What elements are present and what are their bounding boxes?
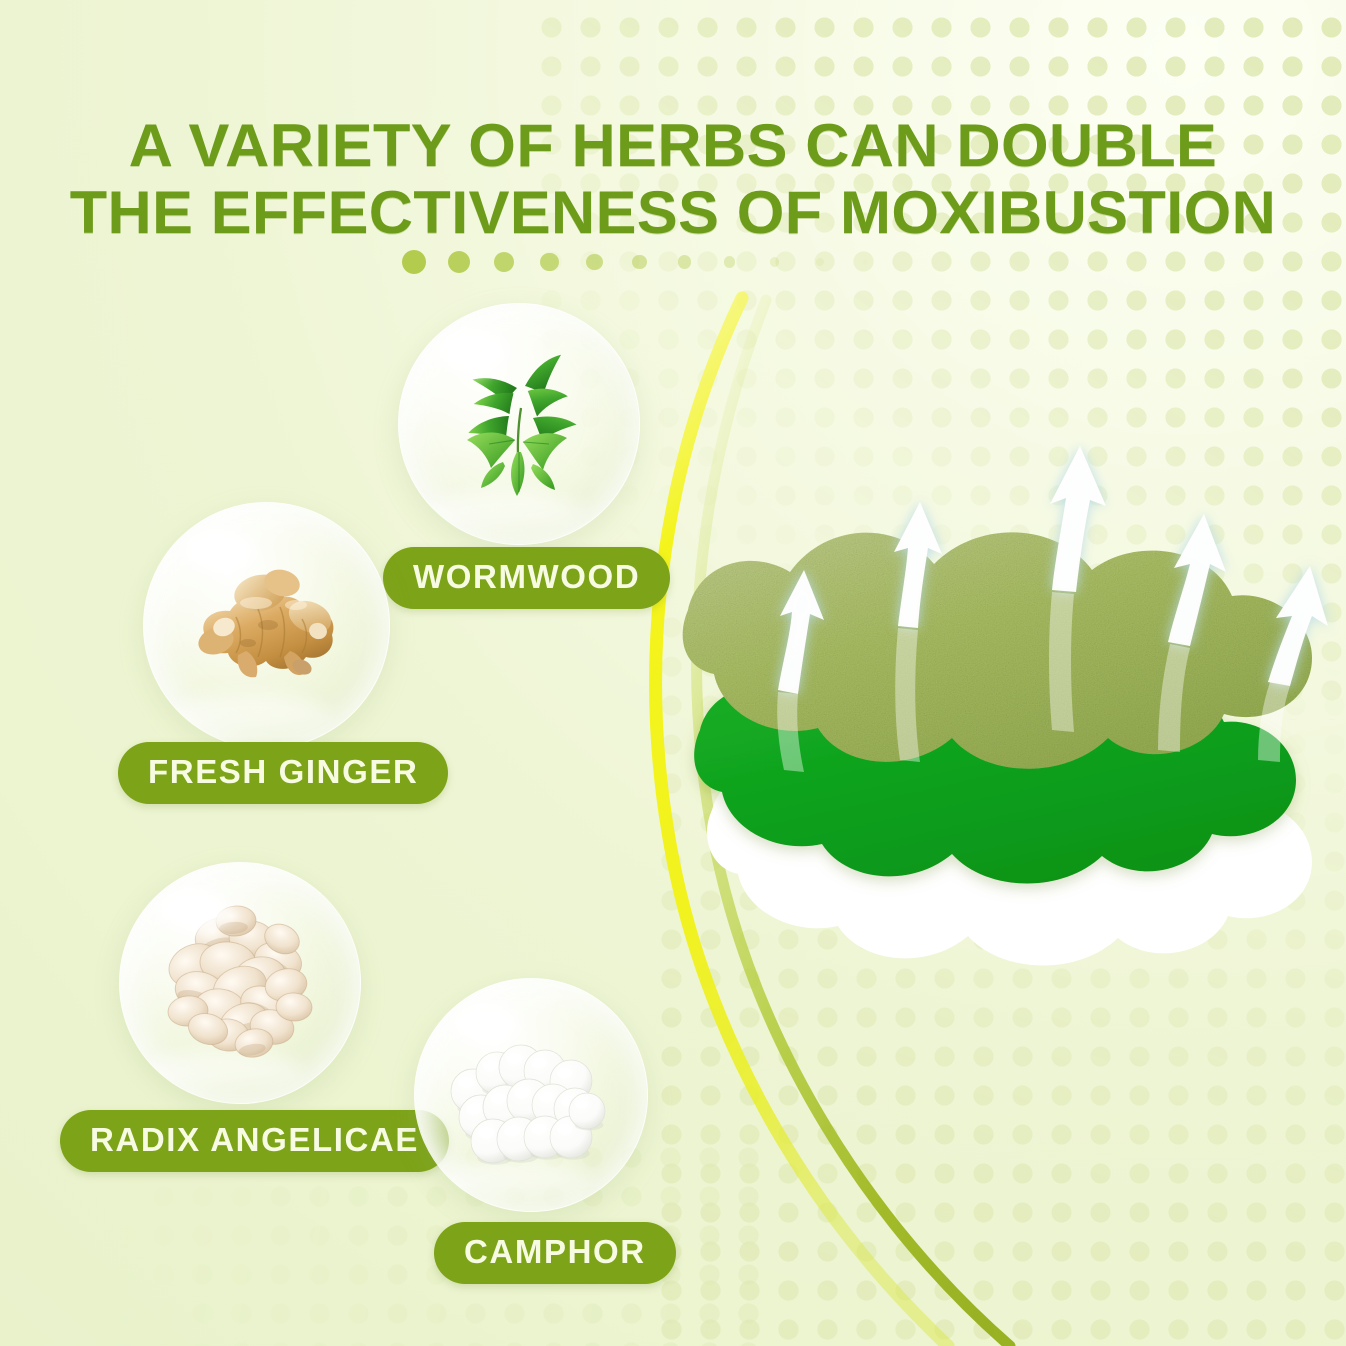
wormwood-leaf-icon — [399, 304, 639, 544]
ingredient-label-fresh-ginger: FRESH GINGER — [118, 742, 448, 804]
ginger-root-icon — [144, 503, 389, 748]
decorative-dot-row — [402, 244, 962, 280]
ingredient-bubble-camphor[interactable] — [414, 978, 648, 1212]
ingredient-bubble-wormwood[interactable] — [398, 303, 640, 545]
infographic-poster: A VARIETY OF HERBS CAN DOUBLE THE EFFECT… — [0, 0, 1346, 1346]
camphor-balls-icon — [415, 979, 647, 1211]
ingredient-label-wormwood: WORMWOOD — [383, 547, 670, 609]
page-title-line-1: A VARIETY OF HERBS CAN DOUBLE — [129, 112, 1218, 179]
ingredient-bubble-radix-angelicae[interactable] — [119, 862, 361, 1104]
ingredient-label-radix-angelicae: RADIX ANGELICAE — [60, 1110, 449, 1172]
ingredient-label-camphor: CAMPHOR — [434, 1222, 676, 1284]
moxibustion-patch-layers — [672, 430, 1346, 1050]
page-title-line-2: THE EFFECTIVENESS OF MOXIBUSTION — [0, 179, 1346, 246]
page-title: A VARIETY OF HERBS CAN DOUBLE THE EFFECT… — [0, 112, 1346, 246]
angelica-slices-icon — [120, 863, 360, 1103]
ingredient-bubble-fresh-ginger[interactable] — [143, 502, 390, 749]
